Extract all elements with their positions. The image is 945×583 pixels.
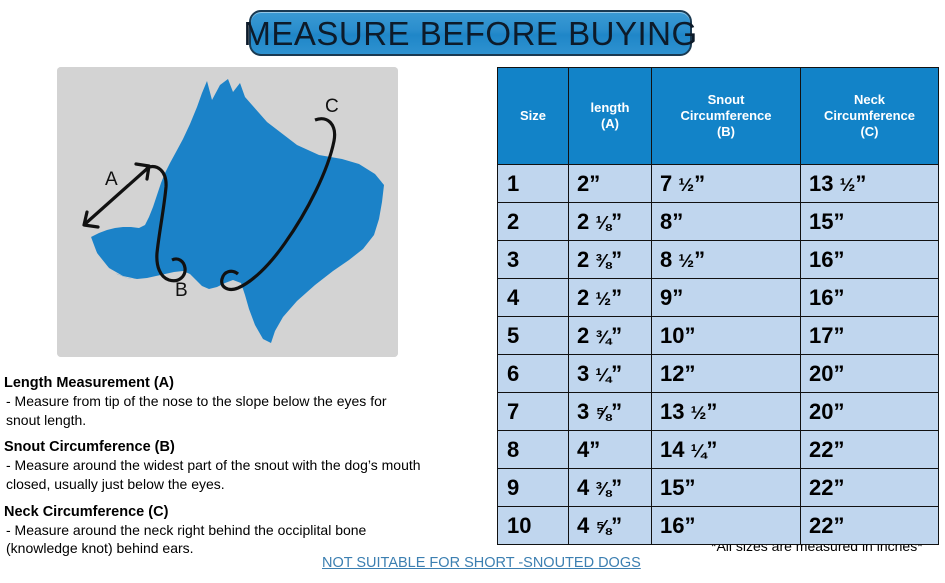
cell-snout: 13 ½”	[652, 393, 801, 431]
cell-size: 1	[498, 165, 569, 203]
table-row: 63 ¼”12”20”	[498, 355, 939, 393]
cell-neck: 17”	[801, 317, 939, 355]
table-row: 42 ½”9”16”	[498, 279, 939, 317]
cell-size: 6	[498, 355, 569, 393]
cell-size: 8	[498, 431, 569, 469]
column-header-snout-circumference: SnoutCircumference(B)	[652, 68, 801, 165]
cell-snout: 16”	[652, 507, 801, 545]
table-row: 52 ¾”10”17”	[498, 317, 939, 355]
cell-snout: 7 ½”	[652, 165, 801, 203]
cell-snout: 15”	[652, 469, 801, 507]
cell-size: 3	[498, 241, 569, 279]
cell-neck: 16”	[801, 279, 939, 317]
column-header-length: length(A)	[569, 68, 652, 165]
table-row: 12”7 ½”13 ½”	[498, 165, 939, 203]
cell-neck: 13 ½”	[801, 165, 939, 203]
cell-length: 2 ¾”	[569, 317, 652, 355]
cell-snout: 8”	[652, 203, 801, 241]
table-row: 73 ⅝”13 ½”20”	[498, 393, 939, 431]
cell-length: 2 ⅜”	[569, 241, 652, 279]
instruction-length: Length Measurement (A) - Measure from ti…	[4, 374, 494, 429]
cell-neck: 20”	[801, 355, 939, 393]
instruction-body: - Measure around the widest part of the …	[4, 456, 494, 493]
title-banner: MEASURE BEFORE BUYING	[249, 10, 692, 56]
table-row: 104 ⅝”16”22”	[498, 507, 939, 545]
instruction-heading: Neck Circumference (C)	[4, 503, 494, 521]
instruction-snout: Snout Circumference (B) - Measure around…	[4, 438, 494, 493]
instruction-heading: Snout Circumference (B)	[4, 438, 494, 456]
cell-neck: 22”	[801, 469, 939, 507]
cell-size: 9	[498, 469, 569, 507]
table-row: 84”14 ¼”22”	[498, 431, 939, 469]
instruction-body: - Measure from tip of the nose to the sl…	[4, 392, 494, 429]
cell-snout: 12”	[652, 355, 801, 393]
cell-length: 2”	[569, 165, 652, 203]
measure-c-label: C	[325, 96, 339, 117]
table-row: 32 ⅜”8 ½”16”	[498, 241, 939, 279]
cell-size: 7	[498, 393, 569, 431]
cell-length: 2 ½”	[569, 279, 652, 317]
table-row: 94 ⅜”15”22”	[498, 469, 939, 507]
cell-length: 4 ⅝”	[569, 507, 652, 545]
page-title: MEASURE BEFORE BUYING	[243, 17, 697, 50]
cell-neck: 15”	[801, 203, 939, 241]
cell-neck: 22”	[801, 507, 939, 545]
instruction-heading: Length Measurement (A)	[4, 374, 494, 392]
cell-length: 4 ⅜”	[569, 469, 652, 507]
cell-length: 4”	[569, 431, 652, 469]
cell-neck: 20”	[801, 393, 939, 431]
cell-snout: 14 ¼”	[652, 431, 801, 469]
instructions-list: Length Measurement (A) - Measure from ti…	[4, 374, 494, 567]
size-chart-table: Size length(A) SnoutCircumference(B) Nec…	[497, 67, 939, 545]
cell-length: 3 ¼”	[569, 355, 652, 393]
instruction-body: - Measure around the neck right behind t…	[4, 521, 494, 558]
column-header-neck-circumference: NeckCircumference(C)	[801, 68, 939, 165]
cell-neck: 22”	[801, 431, 939, 469]
column-header-size: Size	[498, 68, 569, 165]
cell-snout: 10”	[652, 317, 801, 355]
cell-length: 3 ⅝”	[569, 393, 652, 431]
cell-size: 10	[498, 507, 569, 545]
cell-snout: 9”	[652, 279, 801, 317]
table-row: 22 ⅛”8”15”	[498, 203, 939, 241]
cell-length: 2 ⅛”	[569, 203, 652, 241]
measure-a-label: A	[105, 169, 118, 190]
cell-size: 2	[498, 203, 569, 241]
dog-measurement-illustration: A B C	[57, 67, 398, 357]
not-suitable-note: NOT SUITABLE FOR SHORT -SNOUTED DOGS	[322, 555, 641, 571]
cell-size: 5	[498, 317, 569, 355]
cell-neck: 16”	[801, 241, 939, 279]
table-header-row: Size length(A) SnoutCircumference(B) Nec…	[498, 68, 939, 165]
measure-b-label: B	[175, 280, 188, 301]
cell-size: 4	[498, 279, 569, 317]
instruction-neck: Neck Circumference (C) - Measure around …	[4, 503, 494, 558]
cell-snout: 8 ½”	[652, 241, 801, 279]
